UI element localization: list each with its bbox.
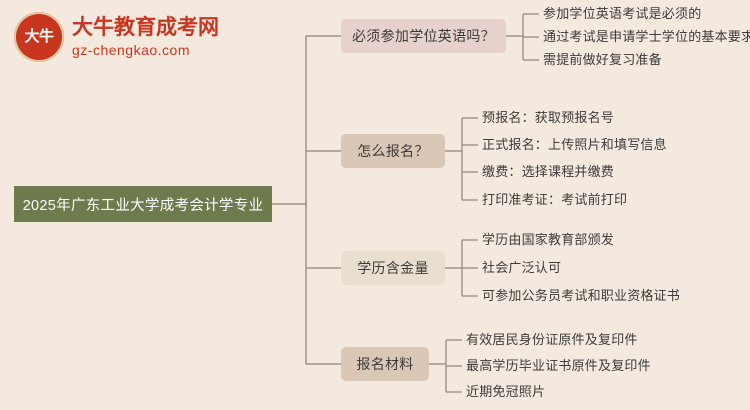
- logo-subtitle: gz-chengkao.com: [72, 42, 219, 58]
- branch-node-2[interactable]: 怎么报名？: [341, 134, 445, 168]
- leaf-2-1: 预报名：获取预报名号: [482, 110, 614, 126]
- leaf-1-2: 通过考试是申请学士学位的基本要求: [543, 29, 750, 45]
- leaf-2-3: 缴费：选择课程并缴费: [482, 164, 614, 180]
- leaf-1-1: 参加学位英语考试是必须的: [543, 6, 701, 22]
- mindmap-root-node: 2025年广东工业大学成考会计学专业: [14, 186, 272, 222]
- logo-badge-text: 大牛: [24, 29, 53, 45]
- leaf-4-2: 最高学历毕业证书原件及复印件: [466, 358, 651, 374]
- leaf-1-3: 需提前做好复习准备: [543, 52, 662, 68]
- leaf-2-2: 正式报名：上传照片和填写信息: [482, 137, 667, 153]
- logo-title: 大牛教育成考网: [72, 16, 219, 39]
- logo-text-block: 大牛教育成考网 gz-chengkao.com: [72, 16, 219, 58]
- branch-node-1[interactable]: 必须参加学位英语吗？: [341, 19, 506, 53]
- site-logo[interactable]: 大牛 大牛教育成考网 gz-chengkao.com: [14, 8, 224, 66]
- leaf-4-3: 近期免冠照片: [466, 384, 545, 400]
- leaf-2-4: 打印准考证：考试前打印: [482, 192, 627, 208]
- leaf-3-3: 可参加公务员考试和职业资格证书: [482, 288, 680, 304]
- branch-node-3[interactable]: 学历含金量: [341, 251, 445, 285]
- logo-badge-icon: 大牛: [14, 12, 64, 62]
- mindmap-canvas: 大牛 大牛教育成考网 gz-chengkao.com 2025年广东工业大学成考…: [0, 0, 750, 410]
- leaf-4-1: 有效居民身份证原件及复印件: [466, 332, 638, 348]
- branch-node-4[interactable]: 报名材料: [341, 347, 429, 381]
- leaf-3-2: 社会广泛认可: [482, 260, 561, 276]
- leaf-3-1: 学历由国家教育部颁发: [482, 232, 614, 248]
